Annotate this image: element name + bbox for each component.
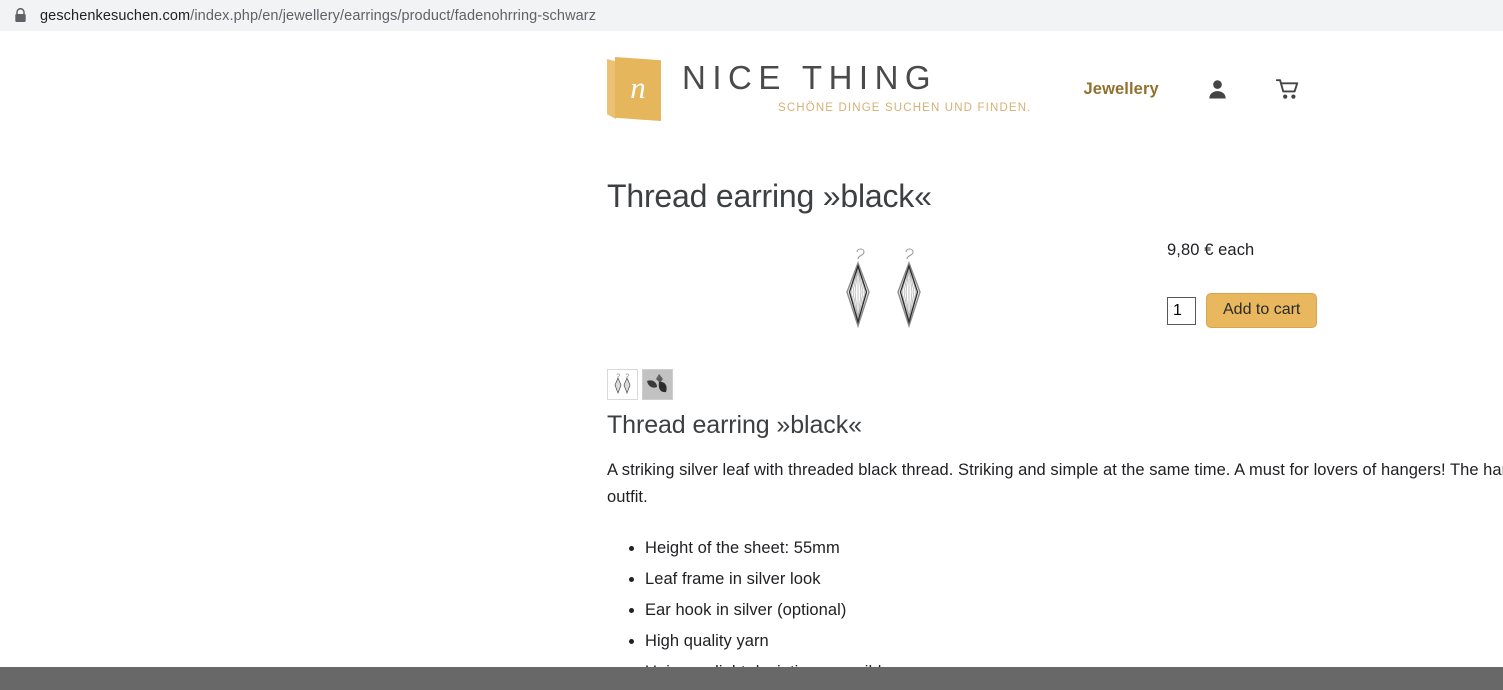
description-text: A striking silver leaf with threaded bla… [607, 457, 1503, 511]
site-logo[interactable]: n NICE THING SCHÖNE DINGE SUCHEN UND FIN… [607, 55, 1032, 121]
thumbnail-earrings-pair[interactable] [607, 369, 638, 400]
account-button[interactable] [1208, 79, 1227, 99]
url-path: /index.php/en/jewellery/earrings/product… [190, 8, 596, 24]
logo-text-block: NICE THING SCHÖNE DINGE SUCHEN UND FINDE… [682, 55, 1032, 114]
site-footer [0, 667, 1503, 690]
list-item: Leaf frame in silver look [645, 569, 1503, 590]
earrings-image [833, 246, 937, 338]
logo-letter: n [615, 57, 661, 121]
list-item: Ear hook in silver (optional) [645, 600, 1503, 621]
browser-url-bar[interactable]: geschenkesuchen.com/index.php/en/jewelle… [0, 0, 1503, 31]
list-item: High quality yarn [645, 631, 1503, 652]
thumbnail-earrings-detail[interactable] [642, 369, 673, 400]
purchase-panel: 9,80 € each Add to cart [1162, 237, 1317, 400]
cart-button[interactable] [1276, 79, 1300, 100]
thumbnail-2-image [643, 370, 672, 399]
product-price: 9,80 € each [1167, 241, 1317, 260]
url-host: geschenkesuchen.com [40, 8, 190, 24]
product-main-row: 9,80 € each Add to cart [607, 237, 1503, 400]
logo-title: NICE THING [682, 61, 1032, 94]
lock-icon [14, 8, 27, 23]
product-gallery [607, 237, 1162, 400]
page-viewport: n NICE THING SCHÖNE DINGE SUCHEN UND FIN… [0, 31, 1503, 690]
logo-tagline: SCHÖNE DINGE SUCHEN UND FINDEN. [778, 102, 1032, 114]
product-title: Thread earring »black« [607, 131, 1503, 215]
cart-row: Add to cart [1167, 293, 1317, 328]
thumbnail-1-image [608, 370, 637, 399]
nav-item-jewellery[interactable]: Jewellery [1084, 80, 1159, 99]
product-main-image[interactable] [607, 237, 1162, 347]
url-text: geschenkesuchen.com/index.php/en/jewelle… [40, 8, 596, 24]
main-navigation: Jewellery [1084, 77, 1300, 100]
quantity-input[interactable] [1167, 297, 1196, 325]
user-icon [1208, 79, 1227, 99]
content-container: n NICE THING SCHÖNE DINGE SUCHEN UND FIN… [607, 31, 1503, 690]
add-to-cart-button[interactable]: Add to cart [1206, 293, 1317, 328]
product-thumbnails [607, 369, 1162, 400]
site-header: n NICE THING SCHÖNE DINGE SUCHEN UND FIN… [607, 31, 1503, 131]
description-heading: Thread earring »black« [607, 411, 1503, 440]
book-logo-icon: n [607, 57, 661, 121]
shopping-cart-icon [1276, 79, 1300, 100]
list-item: Height of the sheet: 55mm [645, 538, 1503, 559]
